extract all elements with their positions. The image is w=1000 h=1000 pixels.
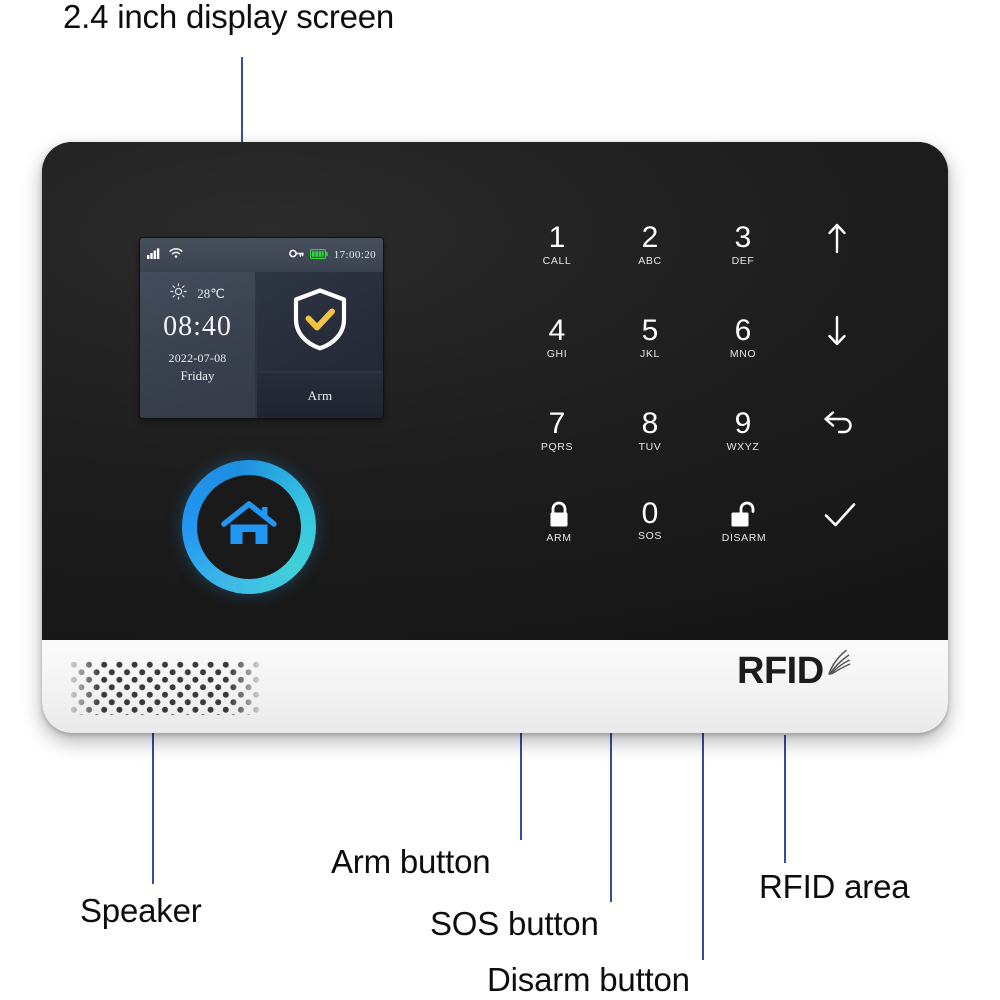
key-disarm-sub: DISARM [698,532,790,544]
screen-status-panel: Arm [257,272,383,418]
key-1-sub: CALL [511,255,603,267]
home-button[interactable] [182,460,316,594]
key-0-sos[interactable]: 0 SOS [604,499,696,542]
key-confirm[interactable] [794,499,886,531]
key-1[interactable]: 1 CALL [511,222,603,267]
key-8[interactable]: 8 TUV [604,408,696,453]
callout-sos-button: SOS button [430,905,599,943]
weather-row: 28℃ [140,283,255,305]
shield-check-icon [291,287,349,356]
status-left-group [147,246,184,264]
key-6-sub: MNO [697,348,789,360]
home-icon [221,500,277,555]
screen-weekday: Friday [140,368,255,384]
key-up[interactable] [791,222,883,254]
callout-disarm-button: Disarm button [487,961,690,999]
key-disarm[interactable]: DISARM [698,499,790,544]
key-4[interactable]: 4 GHI [511,315,603,360]
keypad: 1 CALL 2 ABC 3 DEF 4 GHI 5 JKL [462,222,892,622]
callout-arm-button: Arm button [331,843,490,881]
key-icon [289,246,304,264]
lock-closed-icon [513,499,605,531]
screen-clock: 08:40 [140,311,255,343]
key-down[interactable] [791,315,883,347]
speaker-grille [70,661,260,715]
check-icon [794,499,886,531]
key-8-sub: TUV [604,441,696,453]
back-arrow-icon [793,408,885,440]
key-arm-sub: ARM [513,532,605,544]
key-7-sub: PQRS [511,441,603,453]
key-9[interactable]: 9 WXYZ [697,408,789,453]
alarm-panel-device: 17:00:20 [42,142,948,733]
signal-bars-icon [147,246,162,264]
wifi-icon [168,246,184,264]
key-7-digit: 7 [511,408,603,440]
screen-info-panel[interactable]: 28℃ 08:40 2022-07-08 Friday [140,272,257,418]
key-4-sub: GHI [511,348,603,360]
key-5-sub: JKL [604,348,696,360]
status-bar-time: 17:00:20 [334,249,376,261]
arrow-down-icon [791,315,883,347]
key-3-sub: DEF [697,255,789,267]
key-sos-sub: SOS [604,530,696,542]
key-7[interactable]: 7 PQRS [511,408,603,453]
screen-date: 2022-07-08 [140,351,255,366]
status-right-group: 17:00:20 [289,246,376,264]
arm-status-cell[interactable]: Arm [257,373,383,418]
key-5-digit: 5 [604,315,696,347]
key-arm[interactable]: ARM [513,499,605,544]
arrow-up-icon [791,222,883,254]
key-2-digit: 2 [604,222,696,254]
key-1-digit: 1 [511,222,603,254]
arm-status-label: Arm [308,388,333,404]
leader-line-rfid [784,735,786,863]
speaker-grille-icon [70,661,260,715]
key-9-sub: WXYZ [697,441,789,453]
shield-status-cell[interactable] [257,272,383,373]
callout-speaker: Speaker [80,892,202,930]
screen-body: 28℃ 08:40 2022-07-08 Friday Arm [140,272,383,418]
key-8-digit: 8 [604,408,696,440]
key-2-sub: ABC [604,255,696,267]
battery-full-icon [310,246,328,264]
rfid-area[interactable]: RFID [737,652,862,690]
key-2[interactable]: 2 ABC [604,222,696,267]
sun-icon [170,283,187,305]
key-back[interactable] [793,408,885,440]
display-screen[interactable]: 17:00:20 [140,238,383,418]
screen-status-bar: 17:00:20 [140,238,383,272]
key-0-digit: 0 [604,499,696,529]
callout-rfid-area: RFID area [759,868,909,906]
key-5[interactable]: 5 JKL [604,315,696,360]
key-6-digit: 6 [697,315,789,347]
temperature-value: 28℃ [197,286,225,302]
leader-line-speaker [152,722,154,884]
key-9-digit: 9 [697,408,789,440]
key-3[interactable]: 3 DEF [697,222,789,267]
rfid-label: RFID [737,652,824,690]
lock-open-icon [698,499,790,531]
key-6[interactable]: 6 MNO [697,315,789,360]
home-button-inner [197,475,301,579]
key-4-digit: 4 [511,315,603,347]
callout-display-screen: 2.4 inch display screen [63,0,394,36]
rfid-wave-icon [822,640,862,685]
key-3-digit: 3 [697,222,789,254]
